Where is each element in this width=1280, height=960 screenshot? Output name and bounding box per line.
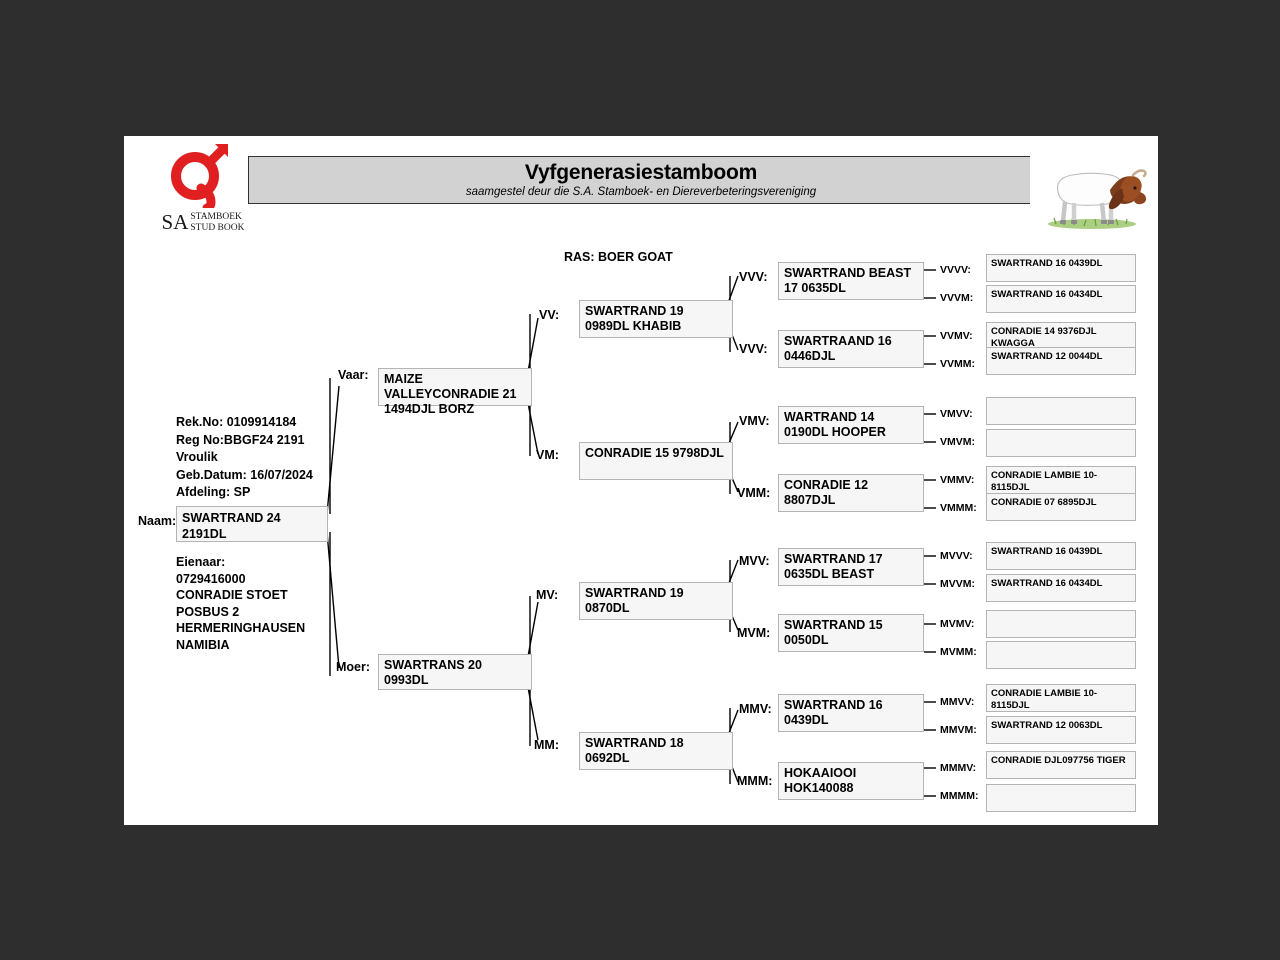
gen4-label-vvmm: VVMM: [940,358,975,370]
gen3-box-vmm[interactable]: CONRADIE 12 8807DJL [778,474,924,512]
gen4-label-vvvm: VVVM: [940,292,973,304]
gen4-box-mvmm[interactable] [986,641,1136,669]
boer-goat-illustration [1030,144,1150,236]
pedigree-page: SASTAMBOEKSTUD BOOK Vyfgenerasiestamboom… [124,136,1158,825]
gen3-label-vvm: VVV: [739,342,768,356]
page-subtitle: saamgestel deur die S.A. Stamboek- en Di… [249,186,1033,198]
gen3-box-vvm[interactable]: SWARTRAAND 16 0446DJL [778,330,924,368]
gen4-box-vmmv[interactable]: CONRADIE LAMBIE 10- 8115DJL [986,466,1136,494]
gen4-label-vmmm: VMMM: [940,502,977,514]
gen4-box-vvvv[interactable]: SWARTRAND 16 0439DL [986,254,1136,282]
gen3-label-vmv: VMV: [739,414,770,428]
sa-logo-text: SASTAMBOEKSTUD BOOK [150,210,256,235]
gen4-label-vvvv: VVVV: [940,264,971,276]
gen2-label-vm: VM: [536,448,559,462]
gen3-label-vmm: VMM: [737,486,770,500]
sa-stamboek-logo: SASTAMBOEKSTUD BOOK [144,142,256,242]
gen3-box-mvm[interactable]: SWARTRAND 15 0050DL [778,614,924,652]
page-title: Vyfgenerasiestamboom [249,161,1033,185]
moer-label: Moer: [336,660,370,674]
gen3-box-mmv[interactable]: SWARTRAND 16 0439DL [778,694,924,732]
gen4-box-mvmv[interactable] [986,610,1136,638]
gen2-label-mv: MV: [536,588,558,602]
naam-label: Naam: [138,514,176,528]
dam-box[interactable]: SWARTRANS 20 0993DL [378,654,532,690]
gen4-box-mvvm[interactable]: SWARTRAND 16 0434DL [986,574,1136,602]
subject-details: Rek.No: 0109914184 Reg No:BBGF24 2191 Vr… [176,414,313,502]
gen4-label-mvvm: MVVM: [940,578,975,590]
gen4-label-vmmv: VMMV: [940,474,974,486]
gen3-label-mvm: MVM: [737,626,770,640]
gen4-label-mvvv: MVVV: [940,550,973,562]
gen4-box-mmmv[interactable]: CONRADIE DJL097756 TIGER [986,751,1136,779]
sa-logo-mark [168,142,232,208]
gen4-label-mmmv: MMMV: [940,762,976,774]
gen4-box-vmvv[interactable] [986,397,1136,425]
gen4-label-mmvv: MMVV: [940,696,974,708]
gen4-label-mvmv: MVMV: [940,618,974,630]
gen4-box-vmvm[interactable] [986,429,1136,457]
sa-logo-initials: SA [162,210,189,234]
gen3-label-mmv: MMV: [739,702,772,716]
gen4-box-mvvv[interactable]: SWARTRAND 16 0439DL [986,542,1136,570]
gen2-box-vm[interactable]: CONRADIE 15 9798DJL [579,442,733,480]
owner-details: Eienaar: 0729416000 CONRADIE STOET POSBU… [176,554,305,653]
gen3-box-vmv[interactable]: WARTRAND 14 0190DL HOOPER [778,406,924,444]
gen2-box-mm[interactable]: SWARTRAND 18 0692DL [579,732,733,770]
gen4-box-vvvm[interactable]: SWARTRAND 16 0434DL [986,285,1136,313]
title-bar: Vyfgenerasiestamboom saamgestel deur die… [248,156,1034,204]
gen3-label-mvv: MVV: [739,554,770,568]
gen3-label-vvv: VVV: [739,270,768,284]
gen3-label-mmm: MMM: [737,774,772,788]
sa-logo-line1: STAMBOEK [190,212,242,222]
sire-box[interactable]: MAIZE VALLEYCONRADIE 21 1494DJL BORZ [378,368,532,406]
screenshot-root: SASTAMBOEKSTUD BOOK Vyfgenerasiestamboom… [0,0,1280,960]
gen3-box-mmm[interactable]: HOKAAIOOI HOK140088 [778,762,924,800]
gen3-box-vvv[interactable]: SWARTRAND BEAST 17 0635DL [778,262,924,300]
gen2-box-mv[interactable]: SWARTRAND 19 0870DL [579,582,733,620]
gen3-box-mvv[interactable]: SWARTRAND 17 0635DL BEAST [778,548,924,586]
gen4-box-mmvm[interactable]: SWARTRAND 12 0063DL [986,716,1136,744]
sa-logo-line2: STUD BOOK [190,223,244,233]
breed-label: RAS: BOER GOAT [564,250,673,264]
gen2-box-vv[interactable]: SWARTRAND 19 0989DL KHABIB [579,300,733,338]
gen2-label-vv: VV: [539,308,559,322]
gen4-label-mmmm: MMMM: [940,790,978,802]
gen2-label-mm: MM: [534,738,559,752]
gen4-box-vvmv[interactable]: CONRADIE 14 9376DJL KWAGGA [986,322,1136,350]
vaar-label: Vaar: [338,368,369,382]
gen4-box-mmvv[interactable]: CONRADIE LAMBIE 10- 8115DJL [986,684,1136,712]
gen4-label-mmvm: MMVM: [940,724,977,736]
gen4-box-vvmm[interactable]: SWARTRAND 12 0044DL [986,347,1136,375]
subject-name-box[interactable]: SWARTRAND 24 2191DL [176,506,328,542]
gen4-box-mmmm[interactable] [986,784,1136,812]
gen4-box-vmmm[interactable]: CONRADIE 07 6895DJL [986,493,1136,521]
gen4-label-vvmv: VVMV: [940,330,973,342]
gen4-label-vmvm: VMVM: [940,436,975,448]
gen4-label-vmvv: VMVV: [940,408,973,420]
gen4-label-mvmm: MVMM: [940,646,977,658]
